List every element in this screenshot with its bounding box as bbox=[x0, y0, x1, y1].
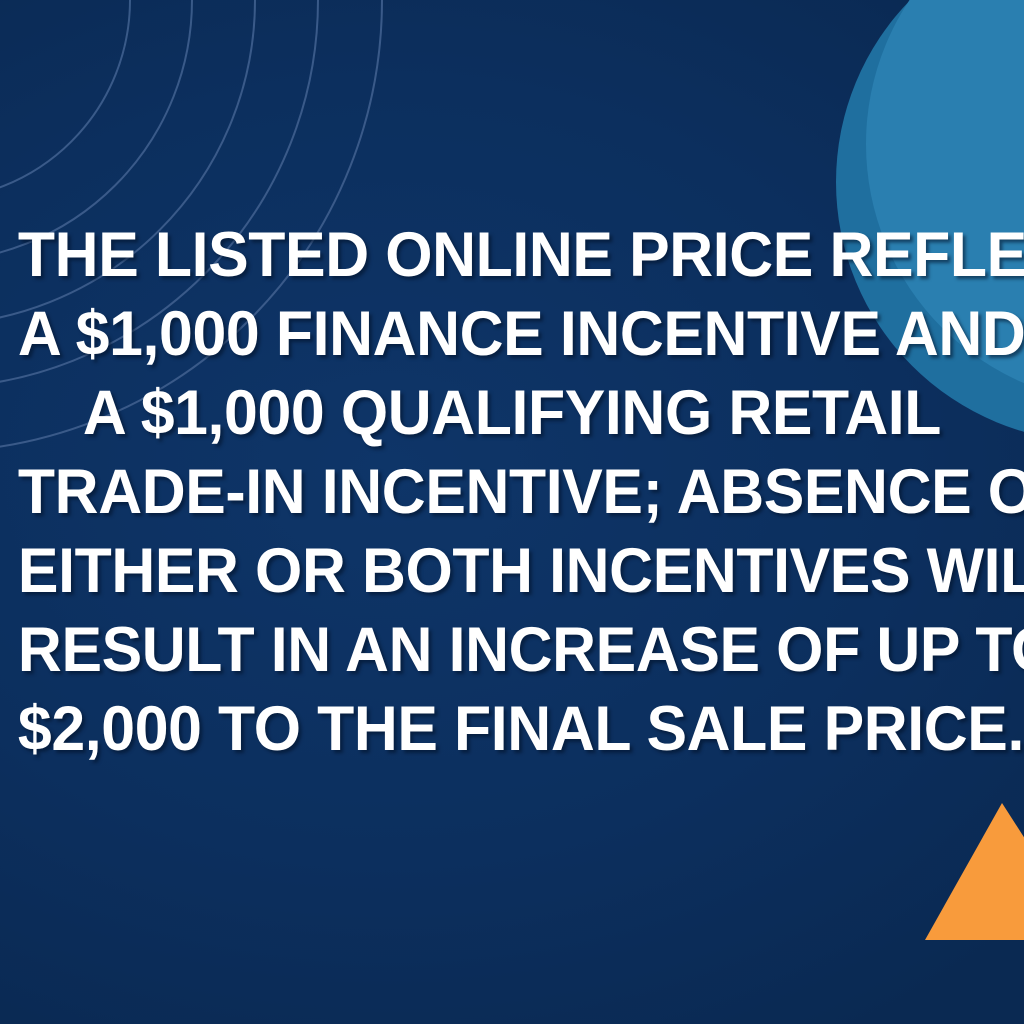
disclaimer-graphic: THE LISTED ONLINE PRICE REFLECTS A $1,00… bbox=[0, 0, 1024, 1024]
headline-line-1: THE LISTED ONLINE PRICE REFLECTS bbox=[18, 216, 1006, 295]
headline-line-6: RESULT IN AN INCREASE OF UP TO bbox=[18, 611, 1006, 690]
headline-line-3: A $1,000 QUALIFYING RETAIL bbox=[18, 374, 1006, 453]
headline-line-4: TRADE-IN INCENTIVE; ABSENCE OF bbox=[18, 453, 1006, 532]
headline-line-7: $2,000 TO THE FINAL SALE PRICE. bbox=[18, 690, 1006, 769]
headline-line-5: EITHER OR BOTH INCENTIVES WILL bbox=[18, 532, 1006, 611]
disclaimer-headline: THE LISTED ONLINE PRICE REFLECTS A $1,00… bbox=[18, 216, 1006, 769]
headline-line-2: A $1,000 FINANCE INCENTIVE AND bbox=[18, 295, 1006, 374]
